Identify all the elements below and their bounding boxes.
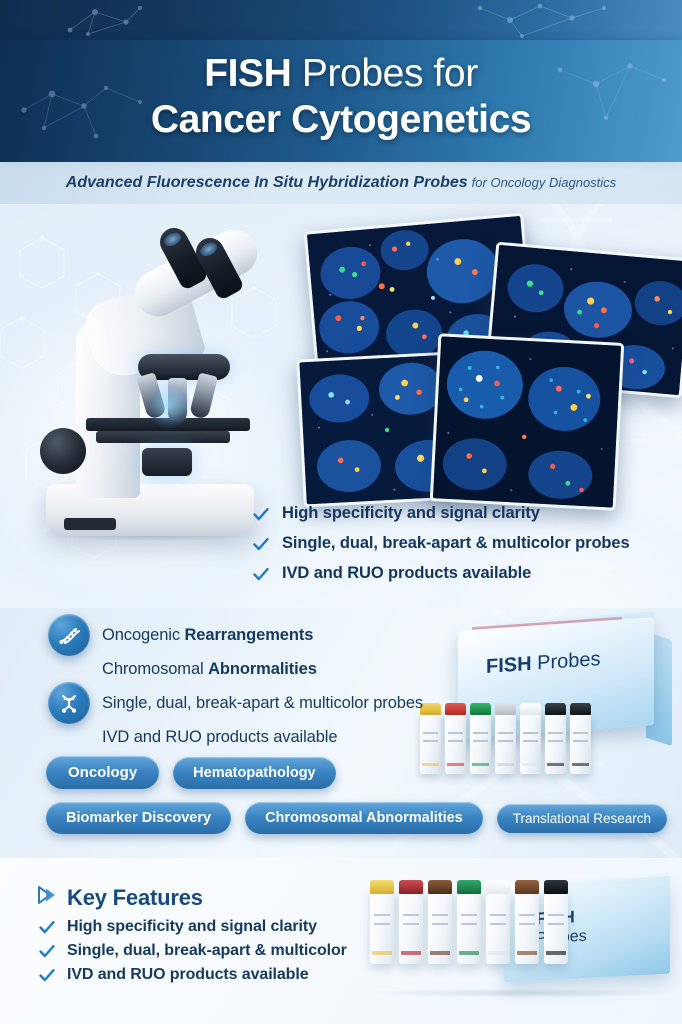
hero-feature-label: Single, dual, break-apart & multicolor p… [282,534,630,553]
title-line2: Cancer Cytogenetics [0,96,682,144]
page-title: FISH Probes for Cancer Cytogenetics [0,50,682,144]
key-features-list: High specificity and signal clarity Sing… [38,918,347,990]
tag-chromosomal-abnormalities[interactable]: Chromosomal Abnormalities [245,802,483,834]
applications-section: FISH Probes [0,608,682,858]
list-item: High specificity and signal clarity [38,918,347,936]
microscope-illustration [18,222,288,582]
hero-section: High specificity and signal clarity Sing… [0,204,682,608]
vial [486,890,510,964]
product-box-bottom: FISH Probes [364,874,674,1004]
key-feature-label: Single, dual, break-apart & multicolor [67,942,347,960]
hero-feature-label: High specificity and signal clarity [282,504,540,523]
list-item: IVD and RUO products available [252,564,672,583]
vial [370,890,394,964]
key-features-section: Key Features High specificity and signal… [0,858,682,1024]
key-features-title: Key Features [67,885,203,911]
chromosome-icon [48,682,90,724]
subtitle-strong: Advanced Fluorescence In Situ Hybridizat… [66,174,468,191]
list-item: Single, dual, break-apart & multicolor [38,942,347,960]
list-item: IVD and RUO products available [38,966,347,984]
feature-row: Single, dual, break-apart & multicolor p… [48,686,478,720]
check-icon [252,535,270,553]
fish-image-4[interactable] [430,333,625,511]
feature-label: Single, dual, break-apart & multicolor p… [102,694,423,713]
vial [428,890,452,964]
feature-row: Chromosomal Abnormalities [48,652,478,686]
subtitle-light: for Oncology Diagnostics [472,175,617,190]
double-chevron-icon [36,884,58,911]
feature-row: IVD and RUO products available [48,720,478,754]
vial [457,890,481,964]
check-icon [38,966,56,984]
subtitle-bar: Advanced Fluorescence In Situ Hybridizat… [0,162,682,204]
vial [399,890,423,964]
check-icon [38,942,56,960]
vial [515,890,539,964]
hero-checklist: High specificity and signal clarity Sing… [252,504,672,594]
tag-oncology[interactable]: Oncology [46,756,159,789]
top-accent-strip [0,0,682,40]
tag-row: Biomarker Discovery Chromosomal Abnormal… [46,802,646,834]
fish-probes-poster: FISH Probes for Cancer Cytogenetics Adva… [0,0,682,1024]
key-feature-label: IVD and RUO products available [67,966,309,984]
microscope-stage-lower [96,431,230,443]
tag-biomarker-discovery[interactable]: Biomarker Discovery [46,802,231,834]
feature-list: Oncogenic Rearrangements Chromosomal Abn… [48,618,478,754]
box-brand-strong: FISH [486,653,532,678]
fish-image-gallery [300,214,672,494]
feature-label: Oncogenic Rearrangements [102,626,313,645]
list-item: Single, dual, break-apart & multicolor p… [252,534,672,553]
hero-feature-label: IVD and RUO products available [282,564,531,583]
title-brand: FISH [204,52,291,95]
key-features-header: Key Features [36,884,203,911]
title-line1-rest: Probes for [291,52,477,95]
tag-row: Oncology Hematopathology [46,756,646,789]
microscope-condenser [142,448,192,476]
molecule-network-icon [0,0,682,40]
feature-label: Chromosomal Abnormalities [102,660,317,679]
microscope-focus-knob [40,428,86,474]
list-item: High specificity and signal clarity [252,504,672,523]
vial [544,890,568,964]
check-icon [252,505,270,523]
microscope-light-beam [146,382,192,428]
box-brand-rest: Probes [532,648,601,675]
tag-translational-research[interactable]: Translational Research [497,804,667,833]
tag-hematopathology[interactable]: Hematopathology [173,757,335,789]
check-icon [252,565,270,583]
application-tags: Oncology Hematopathology Biomarker Disco… [46,756,646,847]
key-feature-label: High specificity and signal clarity [67,918,317,936]
feature-label: IVD and RUO products available [102,728,337,747]
check-icon [38,918,56,936]
dna-strand-icon [48,614,90,656]
feature-row: Oncogenic Rearrangements [48,618,478,652]
product-shadow [364,988,674,998]
header-banner: FISH Probes for Cancer Cytogenetics [0,40,682,162]
page-subtitle: Advanced Fluorescence In Situ Hybridizat… [66,174,616,192]
vial-row-bottom [370,890,568,964]
